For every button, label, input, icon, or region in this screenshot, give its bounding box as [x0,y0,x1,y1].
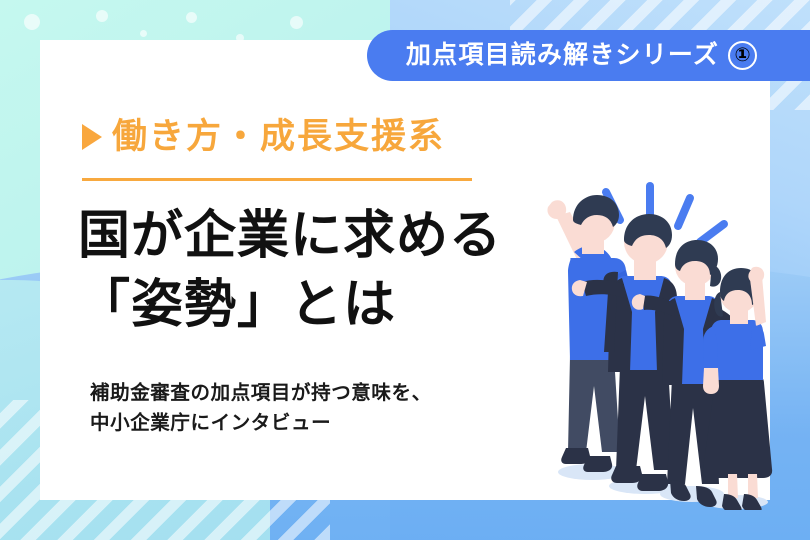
page-title: 国が企業に求める 「姿勢」とは [78,202,502,339]
bubble-icon [96,10,108,22]
page-title-line-2: 「姿勢」とは [78,271,502,340]
series-badge: 加点項目読み解きシリーズ ① [367,30,810,81]
four-people-celebrating-illustration: .sk { fill:#fadcd4; } .sk2 { fill:#f6cfc… [540,180,810,510]
page-description-line-2: 中小企業庁にインタビュー [90,408,432,438]
category-kicker-label: 働き方・成長支援系 [112,119,445,154]
page-description: 補助金審査の加点項目が持つ意味を、 中小企業庁にインタビュー [90,378,432,438]
bubble-icon [290,16,303,29]
bubble-icon [24,14,40,30]
category-kicker: 働き方・成長支援系 [82,119,445,154]
series-badge-number: ① [728,41,757,70]
page-description-line-1: 補助金審査の加点項目が持つ意味を、 [90,378,432,408]
page-title-line-1: 国が企業に求める [78,202,502,271]
poster-canvas: 加点項目読み解きシリーズ ① 働き方・成長支援系 国が企業に求める 「姿勢」とは… [0,0,810,540]
bubble-icon [140,30,147,37]
series-badge-label: 加点項目読み解きシリーズ [406,43,719,68]
triangle-right-icon [82,124,102,150]
kicker-underline [82,178,472,181]
bubble-icon [186,12,197,23]
